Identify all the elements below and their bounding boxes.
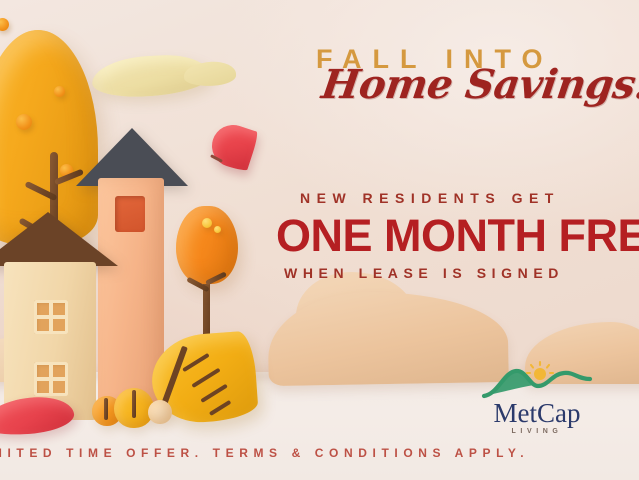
berry-dot xyxy=(214,226,221,233)
offer-kicker: NEW RESIDENTS GET xyxy=(300,190,639,206)
peach-house-window xyxy=(115,196,145,232)
leaf-vein xyxy=(191,368,220,388)
metcap-hill-sun-icon xyxy=(478,360,596,402)
leaf-vein xyxy=(200,384,228,403)
berry-dot xyxy=(54,86,65,97)
berry-dot xyxy=(202,218,212,228)
cloud-shape xyxy=(91,53,211,99)
metcap-tagline: LIVING xyxy=(478,428,596,435)
pumpkin-stem xyxy=(132,390,136,418)
gourd xyxy=(148,400,172,424)
promotional-banner: FALL INTO Home Savings! NEW RESIDENTS GE… xyxy=(0,0,639,480)
pumpkin-stem xyxy=(104,398,108,420)
cream-house-window xyxy=(34,362,68,396)
red-leaf xyxy=(207,120,260,173)
berry-dot xyxy=(16,114,32,130)
offer-block: NEW RESIDENTS GET ONE MONTH FREE WHEN LE… xyxy=(300,190,639,281)
cream-house-body xyxy=(4,262,96,420)
lollipop-tree-crown xyxy=(176,206,238,284)
headline-line-2: Home Savings! xyxy=(319,64,639,106)
headline-block: FALL INTO Home Savings! xyxy=(316,46,639,106)
cream-house-window xyxy=(34,300,68,334)
berry-dot xyxy=(0,18,9,31)
metcap-logo: MetCap LIVING xyxy=(478,360,596,435)
metcap-wordmark: MetCap xyxy=(478,400,596,427)
cream-house-roof xyxy=(0,212,118,266)
leaf-vein xyxy=(182,353,210,372)
offer-headline: ONE MONTH FREE xyxy=(276,212,639,259)
disclaimer-text: LIMITED TIME OFFER. TERMS & CONDITIONS A… xyxy=(0,446,529,460)
offer-subtext: WHEN LEASE IS SIGNED xyxy=(284,265,639,281)
leaf-vein xyxy=(209,400,231,416)
